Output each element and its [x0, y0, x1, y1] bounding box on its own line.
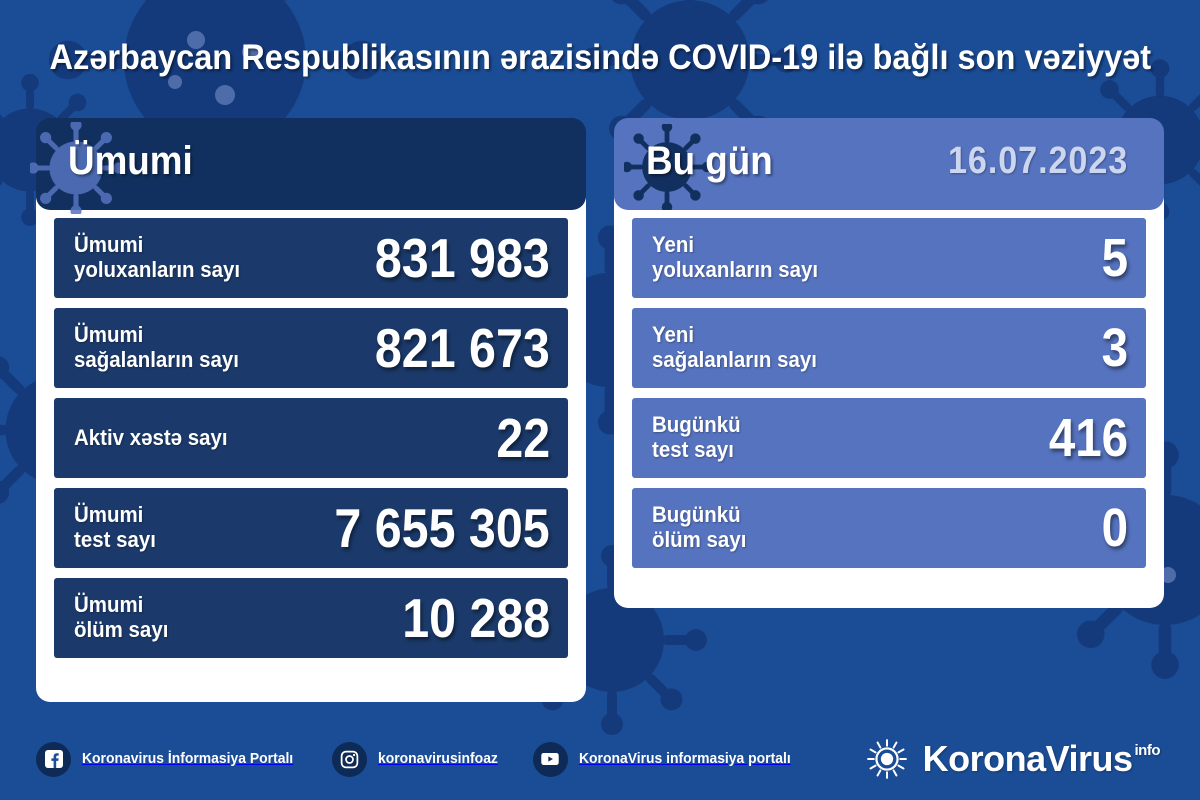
total-panel: Ümumi Ümumi yoluxanların sayı 831 983 Üm…	[36, 118, 586, 702]
stat-label: Ümumi ölüm sayı	[74, 593, 168, 642]
logo-wordmark: KoronaVirusinfo	[923, 738, 1158, 780]
stat-value: 416	[1049, 407, 1128, 469]
stat-row: Yeni yoluxanların sayı 5	[632, 218, 1146, 298]
stat-label: Ümumi test sayı	[74, 503, 156, 552]
stat-row: Ümumi ölüm sayı 10 288	[54, 578, 568, 658]
stat-row: Ümumi sağalanların sayı 821 673	[54, 308, 568, 388]
stat-label: Bugünkü ölüm sayı	[652, 503, 746, 552]
stat-value: 10 288	[402, 586, 550, 650]
stat-value: 831 983	[375, 226, 550, 290]
stat-value: 821 673	[375, 316, 550, 380]
stat-value: 3	[1102, 317, 1128, 379]
logo-suffix: info	[1135, 742, 1161, 759]
panels-container: Ümumi Ümumi yoluxanların sayı 831 983 Üm…	[0, 118, 1200, 702]
page-title: Azərbaycan Respublikasının ərazisində CO…	[49, 38, 1151, 78]
instagram-link[interactable]: koronavirusinfoaz	[332, 742, 503, 777]
logo-name: KoronaVirus	[923, 738, 1133, 779]
virus-sun-icon	[865, 737, 909, 781]
instagram-icon	[332, 742, 367, 777]
facebook-label: Koronavirus İnformasiya Portalı	[82, 751, 293, 767]
stat-row: Bugünkü ölüm sayı 0	[632, 488, 1146, 568]
stat-row: Bugünkü test sayı 416	[632, 398, 1146, 478]
today-panel-header: Bu gün 16.07.2023	[614, 118, 1164, 210]
today-panel-title: Bu gün	[646, 139, 773, 184]
total-panel-body: Ümumi yoluxanların sayı 831 983 Ümumi sa…	[36, 186, 586, 702]
footer: Koronavirus İnformasiya Portalı koronavi…	[0, 722, 1200, 800]
stat-label: Aktiv xəstə sayı	[74, 426, 228, 451]
facebook-link[interactable]: Koronavirus İnformasiya Portalı	[36, 742, 302, 777]
stat-row: Ümumi test sayı 7 655 305	[54, 488, 568, 568]
today-panel-date: 16.07.2023	[948, 140, 1128, 183]
stat-value: 0	[1102, 497, 1128, 559]
koronavirus-logo[interactable]: KoronaVirusinfo	[865, 737, 1164, 781]
today-panel-body: Yeni yoluxanların sayı 5 Yeni sağalanlar…	[614, 186, 1164, 608]
youtube-icon	[533, 742, 568, 777]
stat-label: Ümumi sağalanların sayı	[74, 323, 239, 372]
stat-row: Aktiv xəstə sayı 22	[54, 398, 568, 478]
stat-value: 5	[1102, 227, 1128, 289]
facebook-icon	[36, 742, 71, 777]
total-panel-header: Ümumi	[36, 118, 586, 210]
youtube-link[interactable]: KoronaVirus informasiya portalı	[533, 742, 800, 777]
instagram-label: koronavirusinfoaz	[378, 751, 498, 767]
today-panel: Bu gün 16.07.2023 Yeni yoluxanların sayı…	[614, 118, 1164, 702]
page-title-bar: Azərbaycan Respublikasının ərazisində CO…	[0, 0, 1200, 115]
youtube-label: KoronaVirus informasiya portalı	[579, 751, 791, 767]
stat-row: Ümumi yoluxanların sayı 831 983	[54, 218, 568, 298]
stat-label: Bugünkü test sayı	[652, 413, 741, 462]
stat-value: 7 655 305	[335, 496, 550, 560]
stat-label: Yeni sağalanların sayı	[652, 323, 817, 372]
total-panel-title: Ümumi	[68, 139, 193, 184]
stat-value: 22	[496, 406, 550, 470]
stat-row: Yeni sağalanların sayı 3	[632, 308, 1146, 388]
stat-label: Ümumi yoluxanların sayı	[74, 233, 240, 282]
stat-label: Yeni yoluxanların sayı	[652, 233, 818, 282]
